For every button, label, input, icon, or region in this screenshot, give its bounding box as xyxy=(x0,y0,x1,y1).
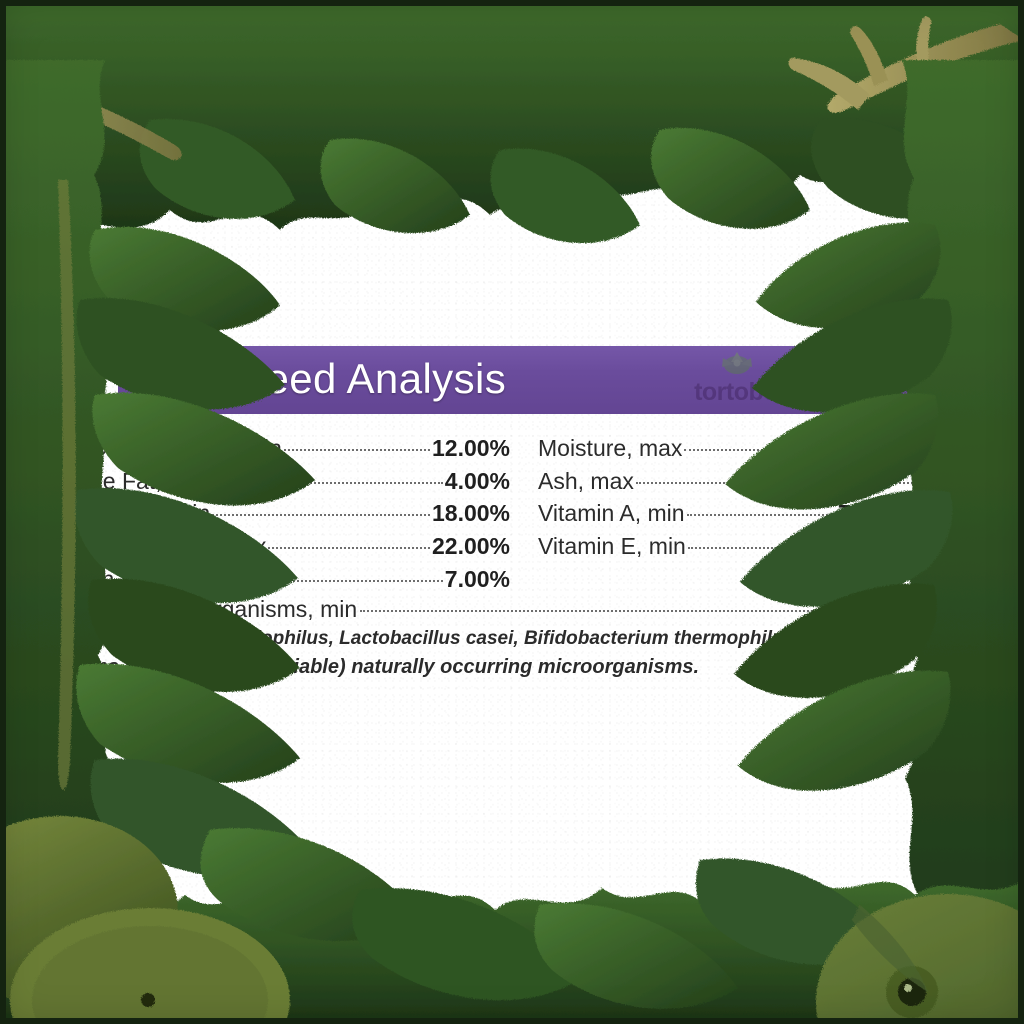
label-photo-frame: uaranteed Analysis tortobeni xyxy=(0,0,1024,1024)
photo-frame-edge xyxy=(0,0,1024,1024)
